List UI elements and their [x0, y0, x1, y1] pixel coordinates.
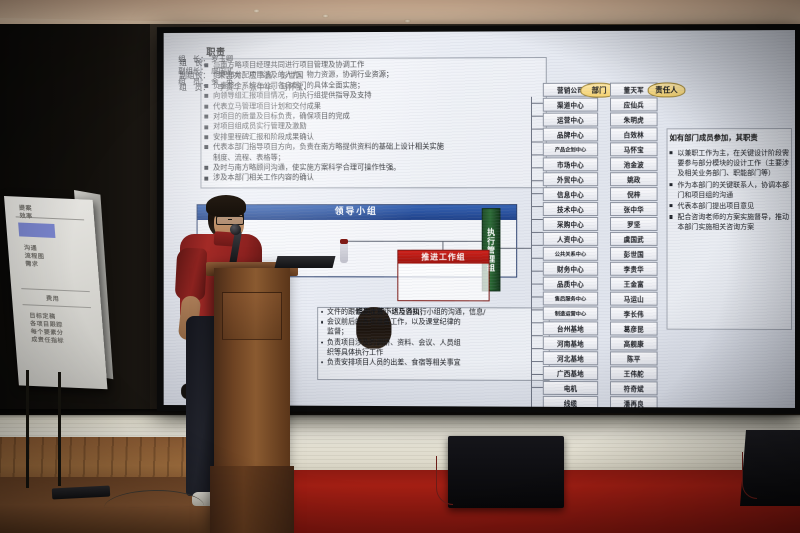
row-label: 副组长：: [178, 65, 211, 76]
water-bottle: [340, 243, 348, 263]
water-bottle-cap: [340, 239, 348, 244]
list-item: 涉及本部门相关工作内容的确认: [204, 173, 556, 184]
list-item: 配合咨询老师的方案实施督导，推动本部门实施相关咨询方案: [670, 212, 792, 232]
table-tick: [531, 387, 543, 388]
org-connector: [497, 248, 530, 249]
table-tick: [531, 142, 543, 143]
list-item-continuation: 制度、流程、表格等；: [204, 152, 556, 163]
bottom-notes-list: 组和顾问小组及各执行小组的沟通，信息/ 料的上传下达与通知； 文件的跟催及收发；…: [319, 307, 551, 368]
member-duties-list: 以兼职工作为主，在关键设计阶段需要参与部分模块的设计工作（主要涉及相关业务部门、…: [670, 148, 792, 234]
downlight-icon: [404, 19, 411, 23]
podium-base: [210, 466, 294, 533]
table-cell: 彭世国: [610, 247, 658, 261]
push-group-box: 推进工作组: [397, 250, 489, 302]
cable: [436, 456, 453, 505]
row-value: 罗玉卿: [211, 54, 233, 63]
table-tick: [531, 309, 543, 310]
easel-leg: [58, 372, 61, 486]
table-tick: [531, 245, 543, 246]
table-cell: 技术中心: [543, 202, 598, 216]
table-tick: [531, 206, 543, 207]
list-item: 作为本部门的关键联系人，协调本部门和项目组的沟通: [670, 180, 792, 200]
table-cell: 台州基地: [543, 321, 598, 335]
table-cell: 马怀宝: [610, 142, 658, 156]
owner-column: 责任人董天军应仙兵朱明虎白效林马怀宝池金波姚政倪梓张中华罗坚虞国武彭世国李贵华王…: [610, 82, 658, 407]
table-cell: 公共关系中心: [543, 247, 598, 261]
row-label: 组 长：: [178, 53, 211, 64]
presentation-photo-scene: 职责 与南方略项目经理共同进行项目管理及协调工作 组织和分配项目涉及的人力、物力…: [0, 0, 800, 533]
table-cell: 河北基地: [543, 351, 598, 365]
table-tick: [531, 258, 543, 259]
table-tick: [531, 167, 543, 168]
list-item: 会议前后的各项准备工作，以及课堂纪律的: [319, 317, 551, 328]
member-duties-title: 如有部门成员参加，其职责: [670, 132, 792, 143]
table-cell: 池金波: [610, 157, 658, 171]
table-tick: [531, 374, 543, 375]
table-cell: 品质中心: [543, 276, 598, 290]
table-cell: 潘再良: [610, 396, 658, 408]
table-cell: 白效林: [610, 127, 658, 141]
table-tick: [531, 361, 543, 362]
table-cell: 外贸中心: [543, 172, 598, 186]
list-item: 文件的跟催及收发；: [319, 307, 551, 318]
table-cell: 葛彦昆: [610, 321, 658, 335]
row-value: 金 英: [211, 77, 233, 86]
table-tick: [531, 322, 543, 323]
table-cell: 河南基地: [543, 336, 598, 350]
easel-leg: [26, 370, 29, 488]
poster-text: 费用: [46, 295, 60, 304]
row-label: 组 员：: [178, 76, 211, 87]
table-tick: [531, 103, 543, 104]
table-cell: 线缆: [543, 396, 598, 408]
table-header-cell: 责任人: [648, 82, 686, 97]
table-cell: 电机: [543, 381, 598, 395]
table-cell: 倪梓: [610, 187, 658, 201]
list-item: 以兼职工作为主，在关键设计阶段需要参与部分模块的设计工作（主要涉及相关业务部门、…: [670, 148, 792, 179]
presenter-hair: [206, 195, 246, 217]
table-tick: [531, 180, 543, 181]
push-group-row: 组 长：罗玉卿: [178, 53, 233, 65]
table-cell: 渠道中心: [543, 98, 598, 112]
push-group-rows: 组 长：罗玉卿 副组长：虞国武 组 员：金 英: [178, 53, 233, 87]
table-cell: 陈平: [610, 351, 658, 365]
cable: [742, 452, 757, 499]
poster-divider: [23, 304, 92, 308]
table-tick: [531, 116, 543, 117]
table-cell: 李长伟: [610, 306, 658, 320]
stage-monitor: [448, 436, 564, 508]
org-connector: [346, 241, 483, 242]
table-cell: 王金富: [610, 277, 658, 291]
list-item: 负责项目涉及的调研、资料、会议、人员组: [319, 337, 551, 348]
poster-highlight-block: [18, 222, 55, 238]
push-group-row: 副组长：虞国武: [178, 65, 233, 77]
presenter-sleeve: [175, 247, 208, 300]
table-cell: 广西基地: [543, 366, 598, 380]
table-cell: 运营中心: [543, 113, 598, 127]
poster-text: 提案效率: [19, 205, 33, 222]
glasses-icon: [216, 216, 244, 225]
push-group-header: 推进工作组: [398, 251, 488, 264]
poster-text: 沟通流程图需求: [24, 245, 46, 270]
table-cell: 李贵华: [610, 262, 658, 276]
microphone-head-icon: [230, 224, 241, 235]
table-tick: [531, 271, 543, 272]
table-tick: [531, 232, 543, 233]
table-tick: [531, 154, 543, 155]
push-group-row: 组 员：金 英: [178, 76, 233, 88]
table-cell: 售后服务中心: [543, 291, 598, 305]
table-cell: 马运山: [610, 291, 658, 305]
table-cell: 制造运营中心: [543, 306, 598, 320]
laptop: [275, 256, 336, 268]
list-item-continuation: 监督；: [319, 327, 551, 338]
table-ticks: [171, 36, 787, 39]
table-cell: 朱明虎: [610, 112, 658, 126]
table-tick: [531, 348, 543, 349]
poster-divider: [21, 288, 90, 292]
downlight-icon: [322, 14, 329, 18]
table-cell: 应仙兵: [610, 97, 658, 111]
table-tick: [531, 129, 543, 130]
department-column: 部门营销公司渠道中心运营中心品牌中心产品企划中心市场中心外贸中心信息中心技术中心…: [543, 83, 598, 408]
table-cell: 采购中心: [543, 217, 598, 231]
list-item: 负责安排项目人员的出差、食宿等相关事宜: [319, 357, 551, 368]
table-cell: 虞国武: [610, 232, 658, 246]
downlight-icon: [253, 9, 260, 13]
poster-text: 目标定稿各项目跟踪每个要素分成责任指标: [29, 312, 64, 345]
list-item: 及时与南方略顾问沟通，使实施方案科学合理可操作性强。: [204, 162, 556, 173]
table-cell: 王伟舵: [610, 366, 658, 380]
table-cell: 符奇斌: [610, 381, 658, 395]
list-item: 代表本部门指导项目方向，负责在南方略提供资料的基础上设计相关实施: [204, 142, 556, 153]
list-item: 安排里程碑汇报和阶段成果确认: [204, 131, 556, 142]
table-tick: [531, 193, 543, 194]
table-tick: [531, 335, 543, 336]
poster-content: 提案效率 沟通流程图需求 费用 目标定稿各项目跟踪每个要素分成责任指标: [8, 200, 103, 385]
table-cell: 人资中心: [543, 232, 598, 246]
table-cell: 产品企划中心: [543, 142, 598, 156]
row-value: 虞国武: [211, 66, 233, 75]
poster-board: 提案效率 沟通流程图需求 费用 目标定稿各项目跟踪每个要素分成责任指标: [4, 196, 107, 389]
table-cell: 姚政: [610, 172, 658, 186]
list-item: 对项目组成员实行管理及激励: [204, 121, 556, 132]
table-tick: [531, 284, 543, 285]
table-cell: 品牌中心: [543, 127, 598, 141]
list-item: 代表本部门提出项目意见: [670, 201, 792, 211]
table-cell: 财务中心: [543, 262, 598, 276]
table-cell: 市场中心: [543, 157, 598, 171]
table-tick: [531, 296, 543, 297]
table-cell: 罗坚: [610, 217, 658, 231]
table-cell: 信息中心: [543, 187, 598, 201]
table-tick: [531, 219, 543, 220]
table-cell: 张中华: [610, 202, 658, 216]
table-cell: 高舰康: [610, 336, 658, 350]
podium-front-panel: [222, 292, 282, 340]
